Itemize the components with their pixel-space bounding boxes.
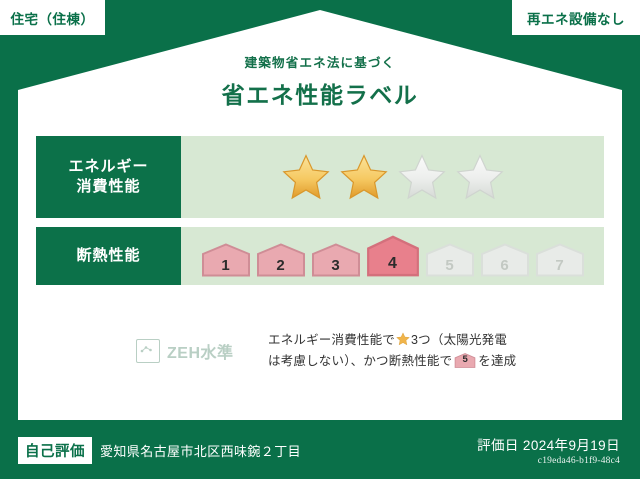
energy-performance-rating <box>181 136 604 218</box>
star-empty-icon <box>397 153 447 201</box>
insulation-level-badge: 4 <box>366 235 420 277</box>
house-shape-icon <box>311 243 361 277</box>
zeh-mark: ZEH水準 <box>36 339 256 363</box>
insulation-performance-rating: 1234567 <box>181 227 604 285</box>
zeh-desc-part3: を達成 <box>478 354 516 368</box>
footer-left: 自己評価 愛知県名古屋市北区西味鋺２丁目 <box>0 437 477 464</box>
page-title: 省エネ性能ラベル <box>0 76 640 110</box>
renewable-equipment-tag-label: 再エネ設備なし <box>527 8 625 28</box>
inline-star-icon <box>396 332 410 346</box>
insulation-level-badge: 5 <box>425 243 475 277</box>
star-filled-icon <box>339 153 389 201</box>
label-title-block: 建築物省エネ法に基づく 省エネ性能ラベル <box>0 52 640 110</box>
zeh-desc-stars: 3つ（太陽光発電 <box>411 333 507 347</box>
star-filled-icon <box>281 153 331 201</box>
label-subtitle: 建築物省エネ法に基づく <box>0 52 640 71</box>
energy-performance-label: エネルギー 消費性能 <box>36 136 181 218</box>
energy-performance-label-line1: エネルギー <box>68 157 148 177</box>
house-shape-icon <box>535 243 585 277</box>
star-rating <box>281 153 505 201</box>
insulation-level-badges: 1234567 <box>201 235 585 277</box>
zeh-desc-part1: エネルギー消費性能で <box>268 333 395 347</box>
star-empty-icon <box>455 153 505 201</box>
insulation-level-badge: 2 <box>256 243 306 277</box>
footer-bar: 自己評価 愛知県名古屋市北区西味鋺２丁目 評価日 2024年9月19日 c19e… <box>0 421 640 479</box>
property-address: 愛知県名古屋市北区西味鋺２丁目 <box>100 441 301 460</box>
energy-performance-label-line2: 消費性能 <box>76 177 140 197</box>
building-type-tag: 住宅（住棟） <box>0 0 105 35</box>
insulation-level-badge: 1 <box>201 243 251 277</box>
zeh-label: ZEH水準 <box>167 339 234 363</box>
performance-rows: エネルギー 消費性能 断熱性能 1234567 <box>36 136 604 294</box>
insulation-performance-label: 断熱性能 <box>36 227 181 285</box>
energy-performance-row: エネルギー 消費性能 <box>36 136 604 218</box>
zeh-icon <box>136 339 160 363</box>
insulation-level-badge: 7 <box>535 243 585 277</box>
building-type-tag-label: 住宅（住棟） <box>11 8 95 28</box>
inline-insulation-badge-value: 5 <box>454 352 476 368</box>
footer-right: 評価日 2024年9月19日 c19eda46-b1f9-48c4 <box>477 434 640 466</box>
insulation-level-badge: 6 <box>480 243 530 277</box>
house-shape-icon <box>201 243 251 277</box>
insulation-performance-row: 断熱性能 1234567 <box>36 227 604 285</box>
zeh-note: ZEH水準 エネルギー消費性能で3つ（太陽光発電 は考慮しない）、かつ断熱性能で… <box>36 330 604 371</box>
house-shape-icon <box>480 243 530 277</box>
evaluation-code: c19eda46-b1f9-48c4 <box>477 456 620 466</box>
inline-insulation-badge: 5 <box>454 353 476 368</box>
house-shape-icon <box>425 243 475 277</box>
insulation-performance-label-line1: 断熱性能 <box>76 246 140 266</box>
house-shape-icon <box>366 235 420 277</box>
insulation-level-badge: 3 <box>311 243 361 277</box>
evaluation-date: 評価日 2024年9月19日 <box>477 434 620 454</box>
zeh-desc-part2: は考慮しない）、かつ断熱性能で <box>268 354 452 368</box>
renewable-equipment-tag: 再エネ設備なし <box>512 0 640 35</box>
self-evaluation-badge: 自己評価 <box>18 437 92 464</box>
house-shape-icon <box>256 243 306 277</box>
zeh-description: エネルギー消費性能で3つ（太陽光発電 は考慮しない）、かつ断熱性能で5を達成 <box>256 330 604 371</box>
